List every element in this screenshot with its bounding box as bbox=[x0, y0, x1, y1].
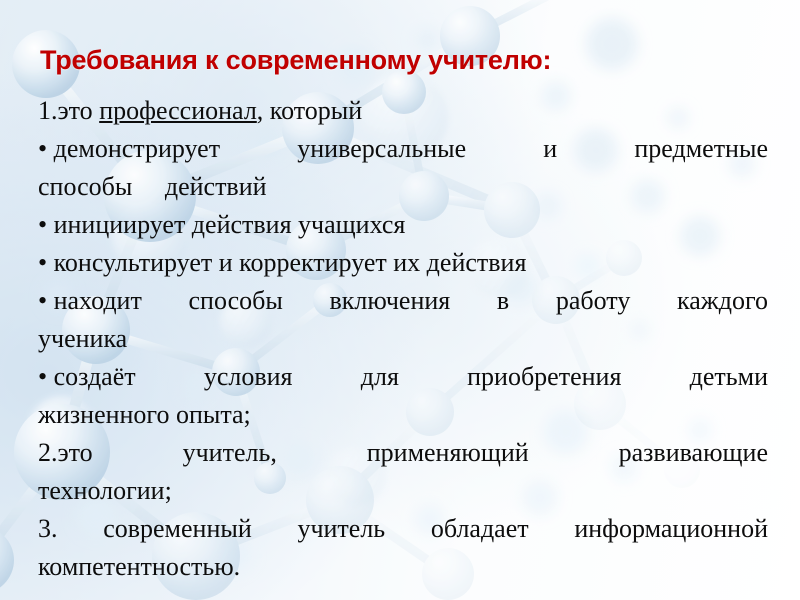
slide-content: Требования к современному учителю: 1.это… bbox=[0, 0, 800, 600]
text-line: компетентностью. bbox=[38, 548, 768, 586]
text-word: работу bbox=[556, 282, 630, 320]
list-item: • демонстрирует универсальные и предметн… bbox=[38, 130, 768, 206]
text-line: • демонстрирует универсальные и предметн… bbox=[38, 130, 768, 168]
text-line: 2.это учитель, применяющий развивающие bbox=[38, 434, 768, 472]
list-item: • создаёт условия для приобретения детьм… bbox=[38, 358, 768, 434]
text-line: жизненного опыта; bbox=[38, 396, 768, 434]
list-item: • инициирует действия учащихся bbox=[38, 206, 768, 244]
text-line: технологии; bbox=[38, 472, 768, 510]
text-word: 3. bbox=[38, 510, 58, 548]
text-word: действий bbox=[165, 172, 267, 201]
text-word: предметные bbox=[634, 130, 768, 168]
text-word: условия bbox=[204, 358, 293, 396]
list-item: • консультирует и корректирует их действ… bbox=[38, 244, 768, 282]
text-word: каждого bbox=[677, 282, 768, 320]
text-word: детьми bbox=[690, 358, 768, 396]
text-word: применяющий bbox=[367, 434, 529, 472]
text-word: обладает bbox=[431, 510, 529, 548]
bullet-word: • создаёт bbox=[38, 358, 136, 396]
text-word: способы bbox=[189, 282, 283, 320]
page-title: Требования к современному учителю: bbox=[40, 44, 760, 76]
text-line: • создаёт условия для приобретения детьм… bbox=[38, 358, 768, 396]
text-word: для bbox=[361, 358, 399, 396]
list-item: 2.это учитель, применяющий развивающие т… bbox=[38, 434, 768, 510]
text-word: информационной bbox=[574, 510, 768, 548]
text-line: 3. современный учитель обладает информац… bbox=[38, 510, 768, 548]
text-word: приобретения bbox=[467, 358, 621, 396]
text-run: , который bbox=[257, 96, 362, 125]
text-line: • консультирует и корректирует их действ… bbox=[38, 244, 768, 282]
text-word: универсальные bbox=[297, 130, 466, 168]
text-word: 2.это bbox=[38, 434, 93, 472]
text-word: в bbox=[497, 282, 509, 320]
text-word: современный bbox=[103, 510, 252, 548]
text-line: 1.это профессионал, который bbox=[38, 92, 768, 130]
text-run: 1.это bbox=[38, 96, 99, 125]
bullet-word: • находит bbox=[38, 282, 142, 320]
text-word: учитель bbox=[297, 510, 385, 548]
text-word: способы bbox=[38, 172, 132, 201]
underlined-word: профессионал bbox=[99, 96, 257, 125]
text-word: развивающие bbox=[619, 434, 768, 472]
list-item: 1.это профессионал, который bbox=[38, 92, 768, 130]
slide-body-text: 1.это профессионал, который • демонстрир… bbox=[38, 92, 768, 586]
text-word: учитель, bbox=[183, 434, 277, 472]
list-item: • находит способы включения в работу каж… bbox=[38, 282, 768, 358]
text-word: и bbox=[543, 130, 557, 168]
text-line: ученика bbox=[38, 320, 768, 358]
text-word: включения bbox=[330, 282, 451, 320]
presentation-slide: Требования к современному учителю: 1.это… bbox=[0, 0, 800, 600]
text-line: способы действий bbox=[38, 168, 768, 206]
text-line: • инициирует действия учащихся bbox=[38, 206, 768, 244]
text-line: • находит способы включения в работу каж… bbox=[38, 282, 768, 320]
bullet-word: • демонстрирует bbox=[38, 130, 220, 168]
list-item: 3. современный учитель обладает информац… bbox=[38, 510, 768, 586]
